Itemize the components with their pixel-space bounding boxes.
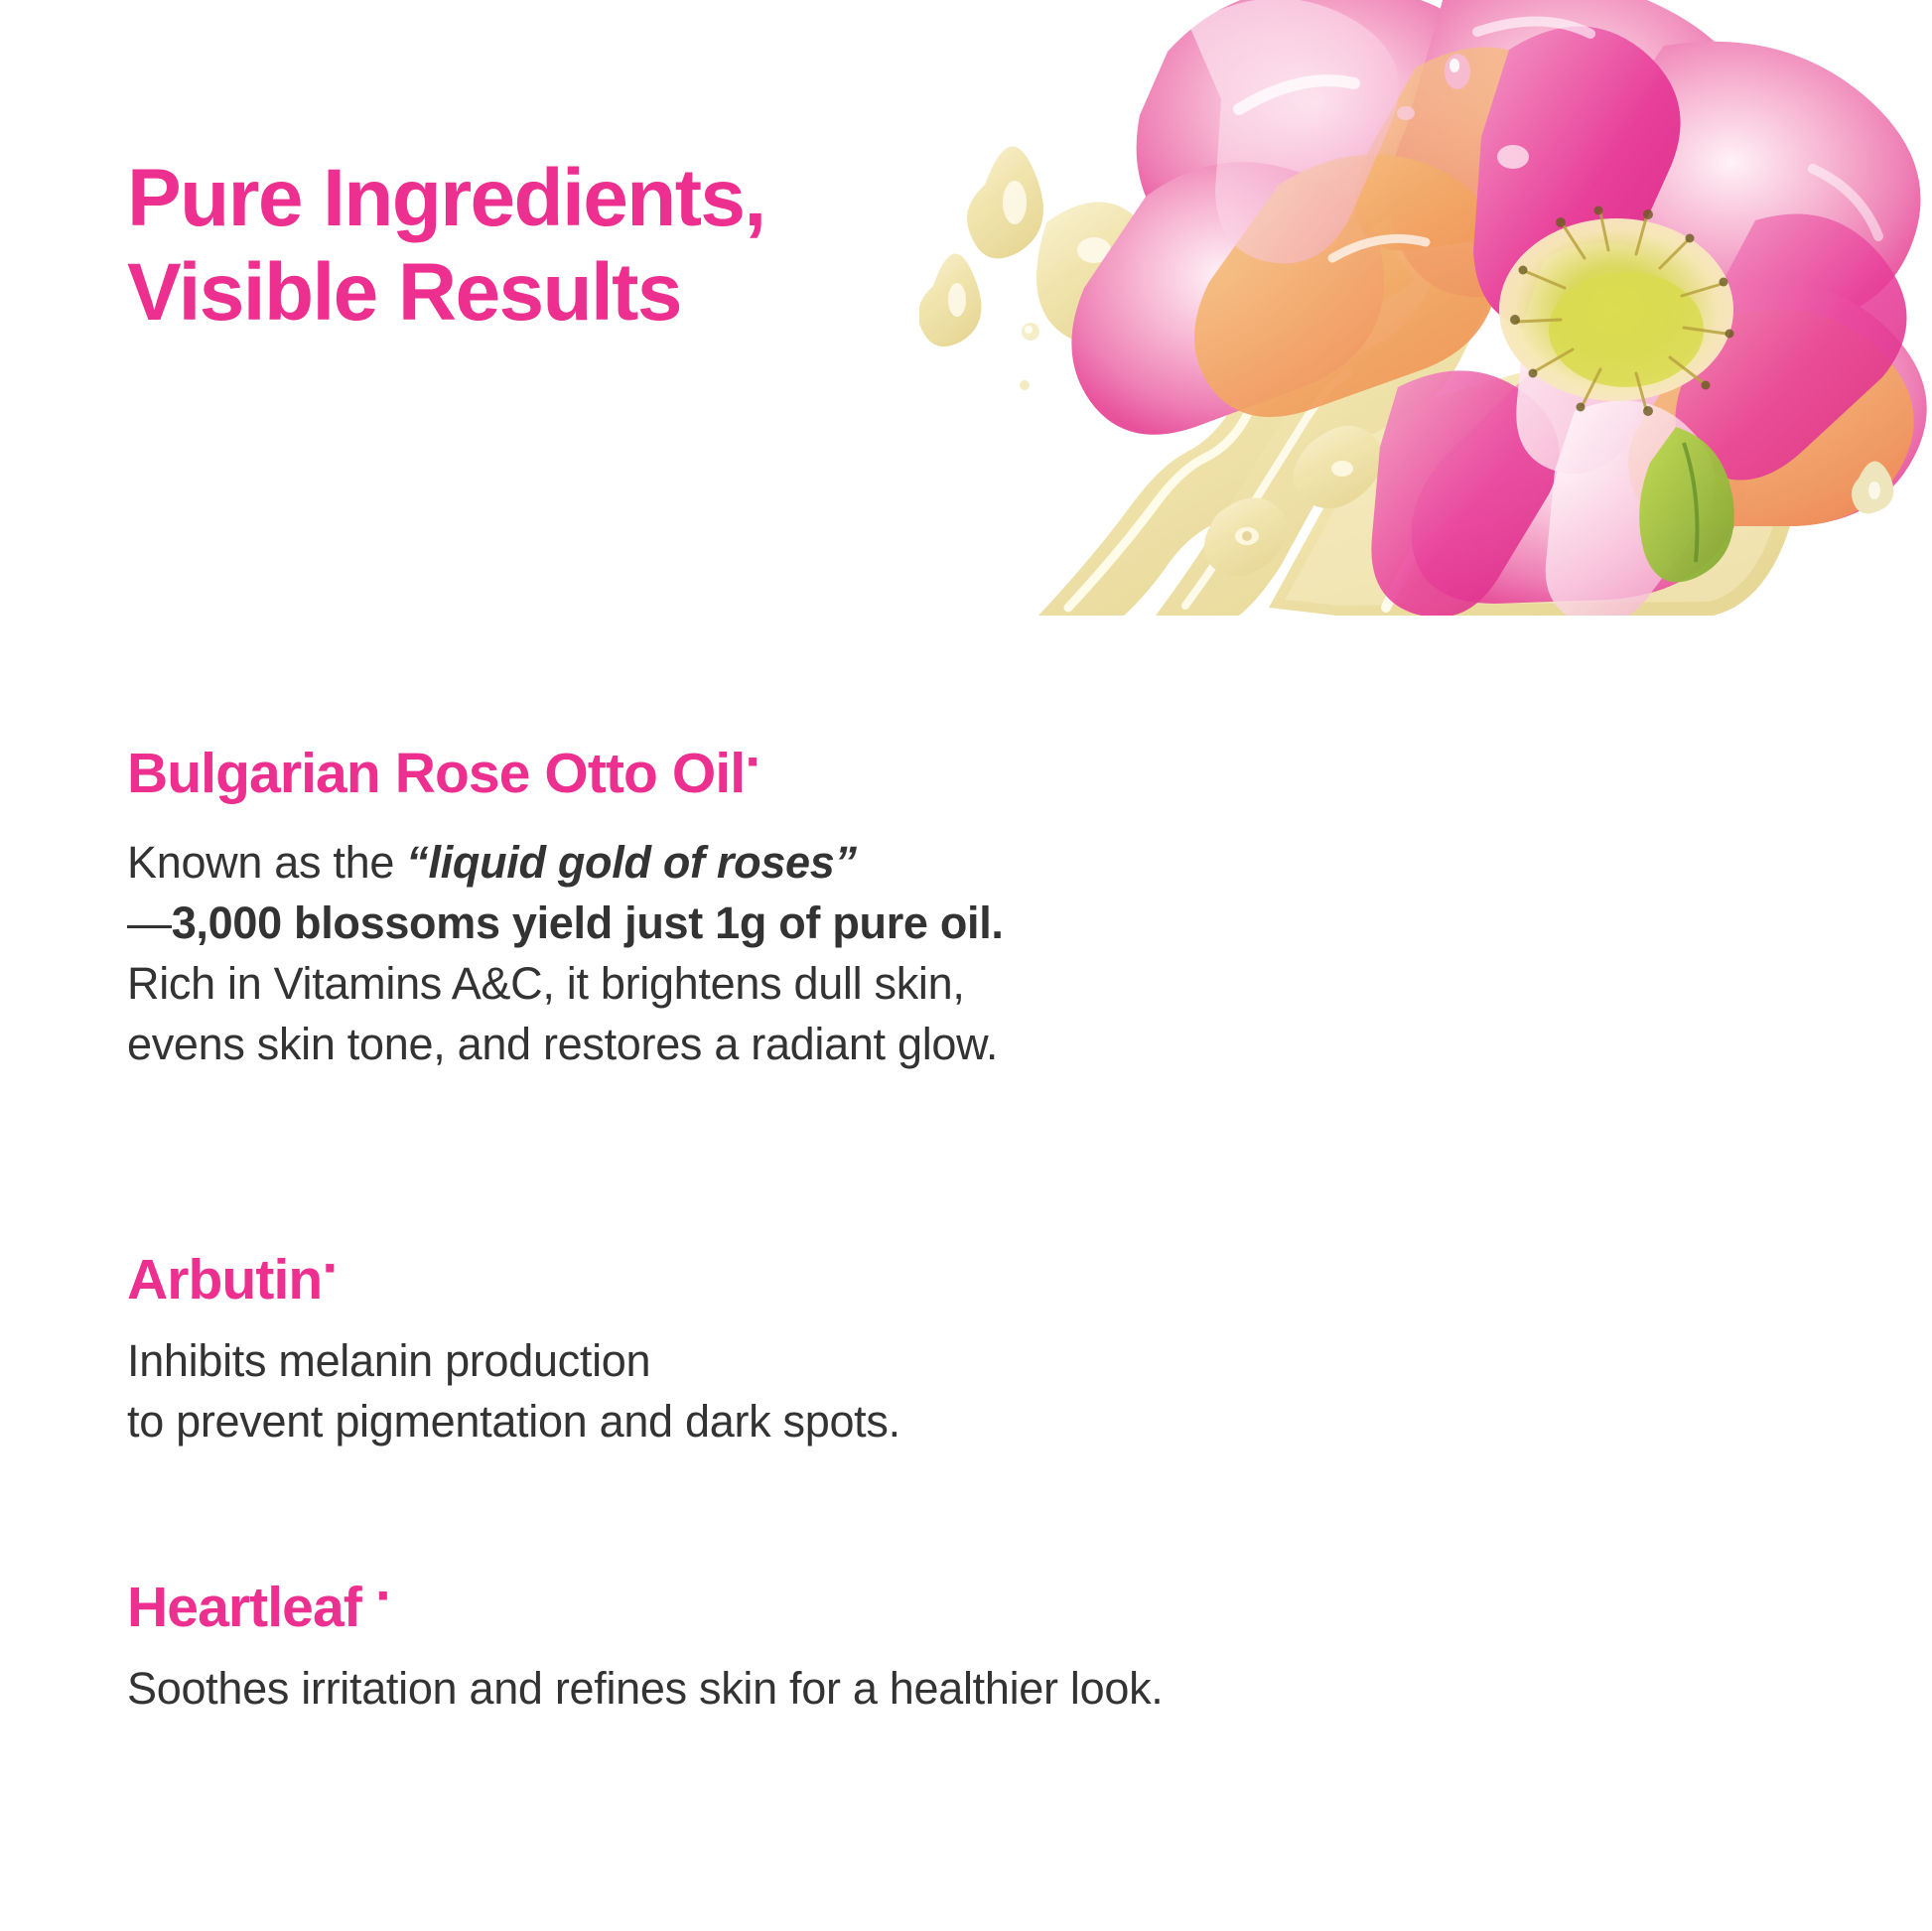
ingredient-block-arbutin: Arbutin· Inhibits melanin production to … (127, 1249, 1755, 1451)
oil-droplets (919, 146, 1768, 527)
body-part-liquid-gold-of-roses: “liquid gold of roses” (406, 837, 856, 888)
rose-bloom (927, 0, 1927, 616)
body-part-arbutin-text: Inhibits melanin production to prevent p… (127, 1335, 900, 1447)
ingredient-name-heartleaf: Heartleaf (127, 1577, 361, 1640)
page-title: Pure Ingredients, Visible Results (127, 151, 765, 340)
ingredient-block-bulgarian-rose-otto-oil: Bulgarian Rose Otto Oil· Known as the “l… (127, 743, 1755, 1075)
oil-pool (1269, 339, 1813, 616)
ingredient-name-arbutin: Arbutin (127, 1249, 322, 1312)
product-ingredients-infographic: Pure Ingredients, Visible Results Bulgar… (0, 0, 1932, 1931)
rose-oil-artwork (919, 0, 1932, 616)
oil-drips (1038, 159, 1583, 616)
ingredient-body-heartleaf: Soothes irritation and refines skin for … (127, 1658, 1755, 1719)
ingredient-name-bulgarian-rose-otto-oil: Bulgarian Rose Otto Oil (127, 743, 745, 806)
ingredient-block-heartleaf: Heartleaf· Soothes irritation and refine… (127, 1577, 1755, 1719)
stray-droplet (1852, 461, 1893, 513)
body-part-heartleaf-text: Soothes irritation and refines skin for … (127, 1663, 1163, 1714)
body-part-emdash: — (127, 897, 172, 948)
ingredient-body-arbutin: Inhibits melanin production to prevent p… (127, 1330, 1755, 1451)
body-part-3000-blossoms: 3,000 blossoms yield just 1g of pure oil… (172, 897, 1004, 948)
body-part-vitamins-glow: Rich in Vitamins A&C, it brightens dull … (127, 958, 998, 1069)
ingredient-body-bulgarian-rose-otto-oil: Known as the “liquid gold of roses” —3,0… (127, 832, 1755, 1075)
body-part-known-as-the: Known as the (127, 837, 406, 888)
